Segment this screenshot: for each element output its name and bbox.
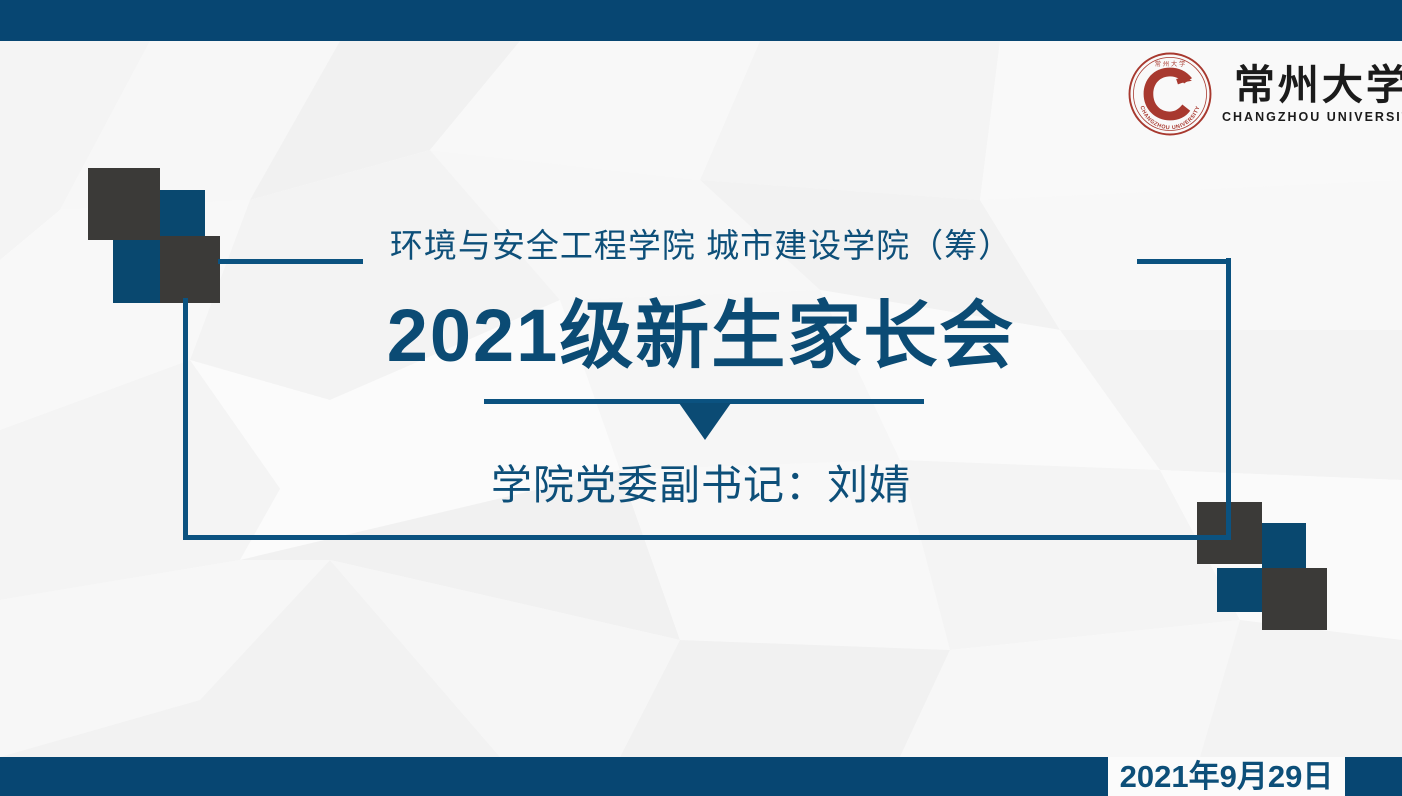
university-crest-icon: 常 州 大 学 CHANGZHOU UNIVERSITY xyxy=(1126,50,1214,138)
triangle-down-icon xyxy=(679,403,731,440)
date-text: 2021年9月29日 xyxy=(1120,761,1334,792)
presenter-name: 学院党委副书记：刘婧 xyxy=(0,463,1402,508)
bottom-accent-bar-left xyxy=(0,757,1108,796)
date-plate: 2021年9月29日 xyxy=(1108,757,1345,796)
page-title: 2021级新生家长会 xyxy=(0,293,1402,378)
title-slide: 常 州 大 学 CHANGZHOU UNIVERSITY 常州大学 CHANGZ… xyxy=(0,0,1402,796)
changzhou-university-logo: 常 州 大 学 CHANGZHOU UNIVERSITY 常州大学 CHANGZ… xyxy=(1126,48,1396,140)
top-accent-bar xyxy=(0,0,1402,41)
bottom-accent-bar-right xyxy=(1345,757,1402,796)
decor-square-dark-bottom-right-2 xyxy=(1262,568,1327,630)
university-name-en: CHANGZHOU UNIVERSITY xyxy=(1222,110,1402,124)
svg-text:常 州 大 学: 常 州 大 学 xyxy=(1155,60,1186,68)
organization-subtitle: 环境与安全工程学院 城市建设学院（筹） xyxy=(0,228,1402,264)
frame-line-bottom-horizontal xyxy=(183,535,1231,540)
decor-square-blue-bottom-right-2 xyxy=(1217,568,1262,612)
university-name-cn: 常州大学 xyxy=(1234,64,1402,107)
university-wordmark: 常州大学 CHANGZHOU UNIVERSITY xyxy=(1222,64,1402,123)
